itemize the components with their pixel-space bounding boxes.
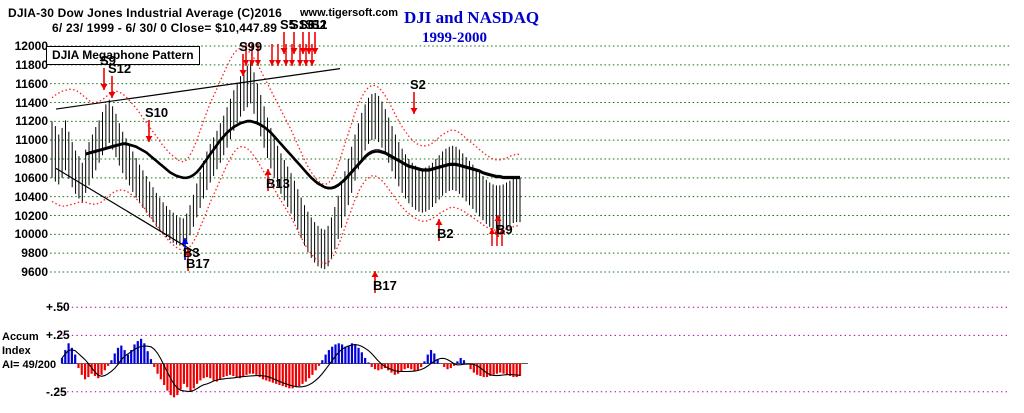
price-axis-tick: 9600 <box>0 265 48 278</box>
signal-arrows <box>101 32 502 293</box>
chart-root: DJIA-30 Dow Jones Industrial Average (C)… <box>0 0 1024 413</box>
accum-index-value: AI= 49/200 <box>2 359 56 371</box>
price-axis-tick-label: 11800 <box>0 58 48 72</box>
sell-signal-label-s2-9: S2 <box>410 77 426 92</box>
price-axis-tick: 10000 <box>0 227 48 240</box>
price-axis-tick: 9800 <box>0 246 48 259</box>
price-axis-tick: 11400 <box>0 96 48 109</box>
price-axis-tick: 10600 <box>0 171 48 184</box>
arrow-head <box>372 271 379 277</box>
price-axis-tick-label: 11400 <box>0 96 48 110</box>
buy-signal-label-b17-11: B17 <box>186 256 210 271</box>
sell-signal-label-s2-8: S2 <box>311 17 327 32</box>
price-axis-tick-label: 12000 <box>0 39 48 53</box>
price-axis-tick-label: 10600 <box>0 171 48 185</box>
arrow-head <box>265 169 272 175</box>
buy-signal-label-b13-12: B13 <box>266 176 290 191</box>
indicator-axis-tick-label: +.50 <box>46 300 70 314</box>
price-axis-tick-label: 9800 <box>0 246 48 260</box>
sell-signal-label-s12-1: S12 <box>108 61 131 76</box>
buy-signal-label-b17-13: B17 <box>373 278 397 293</box>
arrow-head <box>240 70 247 76</box>
sell-signal-label-s10-2: S10 <box>145 105 168 120</box>
price-axis-tick: 10400 <box>0 190 48 203</box>
price-axis-tick: 11200 <box>0 114 48 127</box>
price-axis-tick-label: 11600 <box>0 77 48 91</box>
price-axis-tick-label: 10200 <box>0 209 48 223</box>
price-axis-tick-label: 10000 <box>0 227 48 241</box>
buy-signal-label-b9-15: B9 <box>496 222 513 237</box>
price-axis-tick-label: 10800 <box>0 152 48 166</box>
accum-index-name-line1: Accum <box>2 331 39 343</box>
price-axis-tick: 10800 <box>0 152 48 165</box>
indicator-axis-tick-label: +.25 <box>46 328 70 342</box>
indicator-axis-tick-label: -.25 <box>46 385 67 399</box>
price-axis-tick: 11600 <box>0 77 48 90</box>
price-axis-tick: 11000 <box>0 133 48 146</box>
arrow-head <box>101 84 108 90</box>
arrow-head <box>146 136 153 142</box>
accum-index-histogram <box>62 339 520 398</box>
buy-signal-label-b2-14: B2 <box>437 226 454 241</box>
price-axis-tick: 11800 <box>0 58 48 71</box>
price-axis-tick-label: 11200 <box>0 114 48 128</box>
price-axis-tick-label: 11000 <box>0 133 48 147</box>
sell-signal-label-s99-3: S99 <box>239 39 262 54</box>
arrow-head <box>411 108 418 114</box>
accum-index-name-line2: Index <box>2 345 31 357</box>
arrow-head <box>436 219 443 225</box>
price-axis-tick: 10200 <box>0 209 48 222</box>
price-axis-tick-label: 10400 <box>0 190 48 204</box>
price-axis-tick: 12000 <box>0 39 48 52</box>
price-axis-tick-label: 9600 <box>0 265 48 279</box>
arrow-head <box>182 238 189 244</box>
arrow-head <box>109 92 116 98</box>
